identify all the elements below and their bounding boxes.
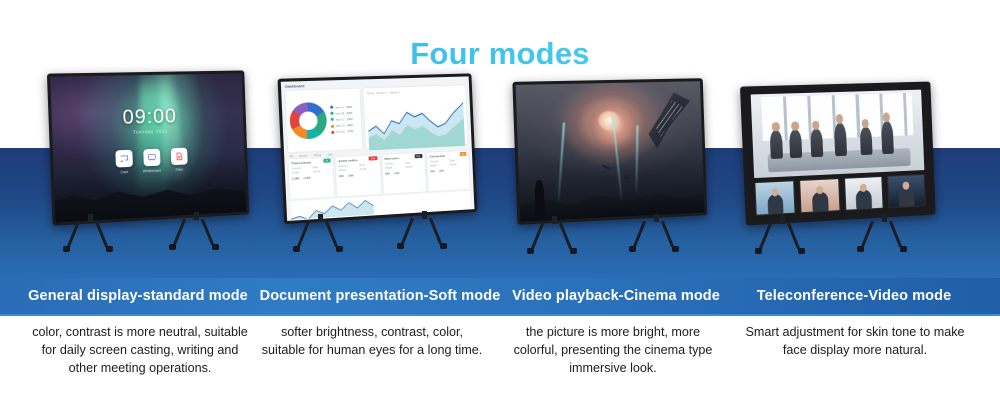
display-panel-general: 09:00 Tuesday 2021 Cast Whiteboard: [47, 70, 249, 225]
legend-label: Item B: [335, 111, 344, 115]
stand-caster: [527, 248, 534, 254]
area-chart-title: Trend: [366, 91, 373, 95]
area-chart-legend-1: Series 1: [377, 91, 387, 95]
area-chart-legend-2: Series 2: [390, 90, 400, 94]
stand-leg: [889, 220, 902, 247]
legend-value: 17%: [347, 129, 353, 133]
legend-item: Item B 22%: [330, 111, 352, 116]
screen-document-presentation: Dashboard Item A 32%: [281, 76, 475, 221]
filter-all[interactable]: All: [289, 154, 293, 158]
kpi-footer: 964 +8%: [339, 172, 377, 178]
mode-title-document: Document presentation-Soft mode: [250, 288, 510, 304]
display-panel-document: Dashboard Item A 32%: [278, 73, 478, 224]
stand-leg: [661, 220, 674, 247]
stand-post: [552, 216, 557, 224]
home-app-whiteboard[interactable]: Whiteboard: [143, 149, 160, 167]
stand-post: [318, 214, 323, 222]
legend-label: Item E: [336, 130, 345, 134]
mode-description-cinema: the picture is more bright, more colorfu…: [506, 324, 720, 378]
stand-caster: [900, 246, 907, 252]
kpi-badge: Top: [414, 154, 422, 158]
screen-cast-icon[interactable]: [115, 150, 133, 168]
kpi-value: 318: [430, 169, 435, 173]
kpi-cell: Target: [385, 166, 402, 170]
legend-dot-icon: [331, 124, 334, 127]
donut-legend: Item A 32% Item B 22%: [330, 104, 353, 134]
legend-item: Item E 17%: [331, 129, 353, 134]
participant-figure: [810, 129, 823, 158]
stand-leg: [633, 220, 646, 247]
stand-leg: [201, 218, 214, 245]
donut-card: Item A 32% Item B 22%: [285, 89, 362, 152]
kpi-card: Active orders Hot Amount Rate Target Act…: [336, 155, 381, 196]
kpi-cell: Actual: [313, 170, 331, 174]
stand-post: [88, 214, 93, 222]
kpi-badge: OK: [323, 159, 331, 163]
kpi-delta: +8%: [348, 174, 354, 178]
mode-title-teleconference: Teleconference-Video mode: [726, 288, 982, 304]
tab-item[interactable]: [355, 217, 360, 219]
stand-caster: [755, 248, 762, 254]
screen-teleconference: [743, 85, 933, 223]
legend-dot-icon: [330, 112, 333, 115]
stand-caster: [798, 248, 805, 254]
stand-post: [654, 214, 659, 222]
video-conference-layout: [743, 85, 933, 223]
thumbnail-head: [771, 188, 778, 196]
poster-canvas: Four modes 09:00 Tuesday 2021 Cast: [0, 0, 1000, 420]
stand-post: [882, 214, 887, 222]
legend-value: 22%: [346, 111, 352, 115]
stand-caster: [440, 243, 447, 249]
thumbnail-figure: [767, 194, 784, 214]
whiteboard-icon[interactable]: [143, 149, 160, 167]
filter-month[interactable]: Month: [299, 153, 308, 157]
kpi-badge: Up: [459, 152, 466, 156]
stand-post: [780, 216, 785, 224]
participant-thumbnail[interactable]: [799, 178, 840, 213]
stand-leg: [429, 217, 442, 244]
area-chart-card: Trend Series 1 Series 2: [363, 85, 468, 148]
kpi-delta: +2%: [438, 169, 444, 173]
mode-title-general: General display-standard mode: [0, 288, 276, 304]
kpi-value: 964: [339, 174, 344, 178]
legend-item: Item A 32%: [330, 104, 352, 109]
stand-caster: [106, 246, 113, 252]
kpi-cell: Target: [430, 164, 447, 168]
kpi-cell: Actual: [450, 163, 467, 167]
stand-leg: [173, 218, 186, 245]
legend-label: Item D: [336, 123, 345, 127]
legend-item: Item D 16%: [331, 123, 353, 128]
thumbnail-head: [903, 181, 910, 189]
tab-item[interactable]: [335, 219, 340, 221]
stand-caster: [857, 246, 864, 252]
legend-item: Item C 13%: [331, 117, 353, 122]
thumbnail-figure: [899, 187, 915, 206]
kpi-value: 1,286: [292, 177, 299, 181]
participant-thumbnail[interactable]: [754, 180, 795, 215]
legend-value: 13%: [347, 117, 353, 121]
documents-icon[interactable]: [170, 147, 187, 165]
stand-caster: [672, 246, 679, 252]
page-title: Four modes: [0, 36, 1000, 72]
participant-thumbnail-strip: [754, 174, 925, 215]
stand-caster: [397, 243, 404, 249]
area-chart-svg: [367, 93, 465, 150]
home-app-documents[interactable]: Files: [170, 147, 187, 165]
kpi-cell: Target: [292, 171, 310, 175]
home-app-screen-cast[interactable]: Cast: [115, 150, 133, 168]
home-app-label: Cast: [120, 170, 128, 174]
dashboard-top-row: Item A 32% Item B 22%: [285, 85, 467, 152]
kpi-delta: +12%: [303, 176, 311, 180]
participant-figure: [834, 123, 847, 156]
kpi-grid: Amount Rate Target Actual: [291, 166, 330, 175]
filter-day[interactable]: Day: [327, 152, 333, 156]
kpi-badge: Hot: [369, 156, 377, 160]
home-app-label: Whiteboard: [143, 168, 161, 173]
mode-title-cinema: Video playback-Cinema mode: [496, 288, 736, 304]
legend-value: 16%: [347, 123, 353, 127]
filter-week[interactable]: Week: [314, 153, 322, 157]
dashboard: Dashboard Item A 32%: [281, 76, 475, 221]
stand-leg: [401, 217, 414, 244]
main-video-view[interactable]: [751, 90, 925, 179]
screen-general-display: 09:00 Tuesday 2021 Cast Whiteboard: [50, 73, 246, 222]
display-unit-cinema: [512, 78, 718, 244]
kpi-value: 520: [385, 172, 390, 176]
participant-figure: [859, 127, 872, 155]
stand-caster: [293, 246, 300, 252]
thumbnail-figure: [856, 189, 872, 209]
kpi-cell: Target: [339, 169, 357, 173]
kpi-footer: 318 +2%: [430, 168, 467, 174]
kpi-cell: Actual: [405, 165, 422, 169]
kpi-grid: Amount Rate Target Actual: [430, 159, 467, 168]
stand-caster: [63, 246, 70, 252]
stand-caster: [336, 246, 343, 252]
stand-caster: [629, 246, 636, 252]
display-unit-document: Dashboard Item A 32%: [278, 74, 488, 242]
stand-leg: [861, 220, 874, 247]
kpi-footer: 1,286 +12%: [292, 175, 331, 181]
participant-thumbnail[interactable]: [887, 174, 926, 208]
legend-dot-icon: [330, 106, 333, 109]
participant-thumbnail[interactable]: [844, 176, 884, 210]
legend-value: 32%: [346, 104, 352, 108]
thumbnail-figure: [812, 192, 828, 212]
display-panel-teleconference: [740, 82, 936, 226]
legend-dot-icon: [331, 131, 334, 134]
stand-caster: [570, 248, 577, 254]
stand-post: [422, 211, 427, 219]
legend-label: Item A: [335, 105, 344, 109]
kpi-grid: Amount Rate Target Actual: [385, 161, 423, 170]
thumbnail-head: [860, 184, 867, 192]
home-app-label: Files: [175, 167, 182, 171]
kpi-cell: Actual: [359, 167, 377, 171]
kpi-card: Conversion Up Amount Rate Target Actual …: [427, 151, 470, 191]
kpi-footer: 520 +4%: [385, 170, 422, 176]
thumbnail-head: [816, 186, 823, 194]
donut-chart: [289, 102, 328, 140]
kpi-delta: +4%: [394, 171, 400, 175]
legend-dot-icon: [331, 118, 334, 121]
display-panel-cinema: [512, 78, 707, 225]
mode-description-teleconference: Smart adjustment for skin tone to make f…: [740, 324, 970, 360]
mode-description-general: color, contrast is more neutral, suitabl…: [26, 324, 254, 378]
legend-label: Item C: [336, 117, 345, 121]
display-unit-teleconference: [740, 82, 946, 244]
tab-item[interactable]: [365, 217, 370, 219]
stand-caster: [212, 244, 219, 250]
kpi-card: New users Top Amount Rate Target Actual …: [382, 153, 426, 194]
stand-caster: [169, 244, 176, 250]
display-unit-general: 09:00 Tuesday 2021 Cast Whiteboard: [46, 72, 262, 242]
stand-post: [194, 212, 199, 220]
tab-item[interactable]: [345, 218, 350, 220]
screen-video-playback: [516, 81, 705, 221]
mode-description-document: softer brightness, contrast, color, suit…: [258, 324, 486, 360]
kpi-card: Total revenue OK Amount Rate Target Actu…: [288, 157, 334, 199]
kpi-grid: Amount Rate Target Actual: [339, 163, 377, 172]
